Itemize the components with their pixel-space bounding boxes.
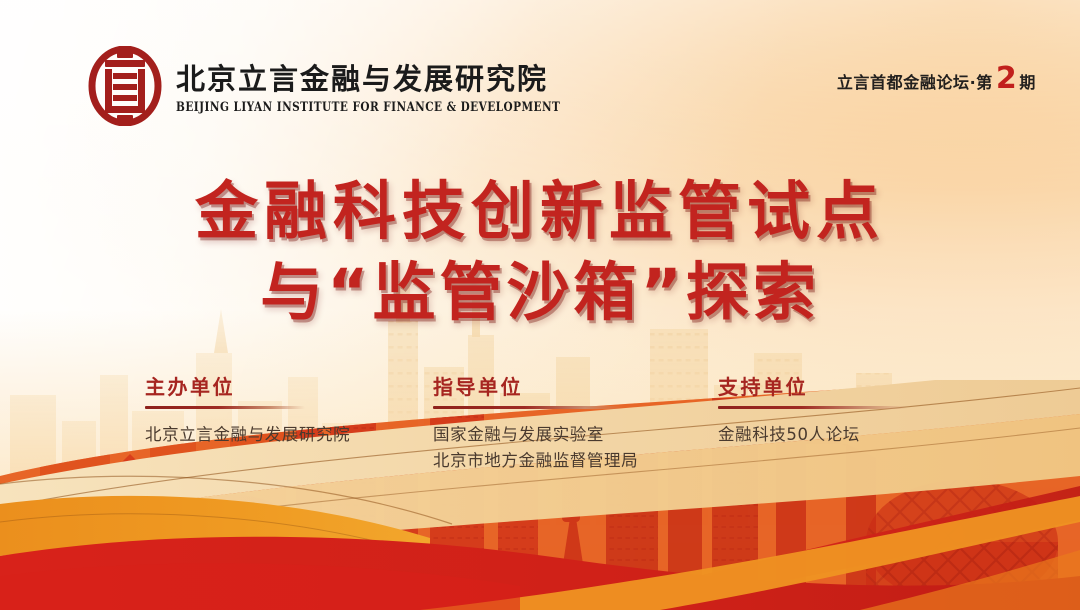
forum-issue-tag: 立言首都金融论坛·第 2 期 xyxy=(837,64,1036,94)
organizer-heading: 指导单位 xyxy=(433,375,703,399)
forum-issue-number: 2 xyxy=(996,64,1017,94)
forum-tag-suffix: 期 xyxy=(1019,69,1036,93)
brand-name-cn: 北京立言金融与发展研究院 xyxy=(176,64,560,95)
organizer-rule xyxy=(145,406,305,409)
organizer-entries: 国家金融与发展实验室 北京市地方金融监督管理局 xyxy=(433,422,703,474)
organizer-entries: 北京立言金融与发展研究院 xyxy=(145,422,395,448)
title-line-1: 金融科技创新监管试点 xyxy=(0,172,1080,253)
brand-logo-block: 北京立言金融与发展研究院 BEIJING LIYAN INSTITUTE FOR… xyxy=(88,46,560,126)
event-poster: 北京立言金融与发展研究院 BEIJING LIYAN INSTITUTE FOR… xyxy=(0,0,1080,610)
organizer-entry: 金融科技50人论坛 xyxy=(718,422,948,448)
organizer-column-host: 主办单位 北京立言金融与发展研究院 xyxy=(145,375,395,448)
organizer-rule xyxy=(718,406,908,409)
organizer-entry: 北京市地方金融监督管理局 xyxy=(433,448,703,474)
organizer-entry: 国家金融与发展实验室 xyxy=(433,422,703,448)
liyan-seal-icon xyxy=(88,46,162,126)
organizer-entries: 金融科技50人论坛 xyxy=(718,422,948,448)
organizer-column-support: 支持单位 金融科技50人论坛 xyxy=(718,375,948,448)
forum-tag-prefix: 立言首都金融论坛·第 xyxy=(837,69,993,93)
organizer-rule xyxy=(433,406,623,409)
brand-name-group: 北京立言金融与发展研究院 BEIJING LIYAN INSTITUTE FOR… xyxy=(176,60,560,111)
organizer-column-guidance: 指导单位 国家金融与发展实验室 北京市地方金融监督管理局 xyxy=(433,375,703,474)
organizer-section: 主办单位 北京立言金融与发展研究院 指导单位 国家金融与发展实验室 北京市地方金… xyxy=(0,375,1080,485)
title-line-2: 与“监管沙箱”探索 xyxy=(0,253,1080,334)
brand-name-en: BEIJING LIYAN INSTITUTE FOR FINANCE & DE… xyxy=(176,100,560,115)
organizer-heading: 主办单位 xyxy=(145,375,395,399)
organizer-heading: 支持单位 xyxy=(718,375,948,399)
poster-title: 金融科技创新监管试点 与“监管沙箱”探索 xyxy=(0,172,1080,333)
organizer-entry: 北京立言金融与发展研究院 xyxy=(145,422,395,448)
